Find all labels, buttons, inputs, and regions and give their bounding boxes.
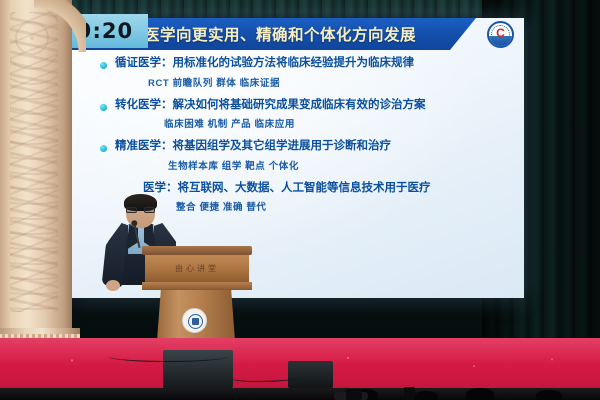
bullet-dot-icon [100, 104, 107, 111]
bullet-dot-icon [100, 62, 107, 69]
slide-bullet-2: 转化医学：解决如何将基础研究成果变成临床有效的诊治方案 [100, 98, 524, 114]
speaker-glasses [126, 207, 155, 213]
decorative-column [0, 0, 72, 372]
slide-bullet-1: 循证医学：用标准化的试验方法将临床经验提升为临床规律 [100, 56, 524, 72]
bullet-main-text: 循证医学：用标准化的试验方法将临床经验提升为临床规律 [115, 56, 414, 72]
logo-letter: C [496, 27, 505, 39]
column-arch [34, 0, 86, 52]
audience-silhouette [414, 391, 438, 400]
bullet-sub-text-3: 生物样本库 组学 靶点 个体化 [168, 158, 524, 172]
logo-ring: C [487, 21, 514, 48]
phone-device [404, 387, 415, 400]
audience-silhouette [466, 388, 494, 400]
stage-cable [108, 351, 228, 362]
bullet-dot-icon [100, 145, 107, 152]
slide-bullet-4: 医学：将互联网、大数据、人工智能等信息技术用于医疗 [100, 181, 524, 197]
speaker-hand [106, 280, 120, 291]
institution-logo: C [487, 21, 514, 48]
slide-title: 医学向更实用、精确和个体化方向发展 [144, 23, 416, 45]
bullet-main-text: 转化医学：解决如何将基础研究成果变成临床有效的诊治方案 [115, 98, 426, 114]
university-emblem [182, 308, 207, 333]
bullet-sub-text-2: 临床困难 机制 产品 临床应用 [164, 116, 524, 130]
slide-bullet-3: 精准医学：将基因组学及其它组学进展用于诊断和治疗 [100, 139, 524, 155]
podium-front-panel: 由心讲堂 [145, 255, 249, 282]
podium-inscription: 由心讲堂 [145, 263, 249, 274]
column-carving [10, 12, 58, 312]
bullet-sub-text-4: 整合 便捷 准确 替代 [176, 199, 524, 213]
bullet-main-text: 医学：将互联网、大数据、人工智能等信息技术用于医疗 [143, 181, 431, 197]
stage-front-edge [0, 388, 600, 400]
podium-top [142, 246, 252, 255]
camera-device [346, 389, 362, 400]
bullet-sub-text-1: RCT 前瞻队列 群体 临床证据 [148, 75, 524, 89]
bullet-main-text: 精准医学：将基因组学及其它组学进展用于诊断和治疗 [115, 139, 391, 155]
audience-silhouette [536, 390, 562, 400]
podium-molding [142, 282, 252, 290]
conference-stage-photo: 来 医学向更实用、精确和个体化方向发展 C 9:20 循证医学：用标准化的试验方… [0, 0, 600, 400]
